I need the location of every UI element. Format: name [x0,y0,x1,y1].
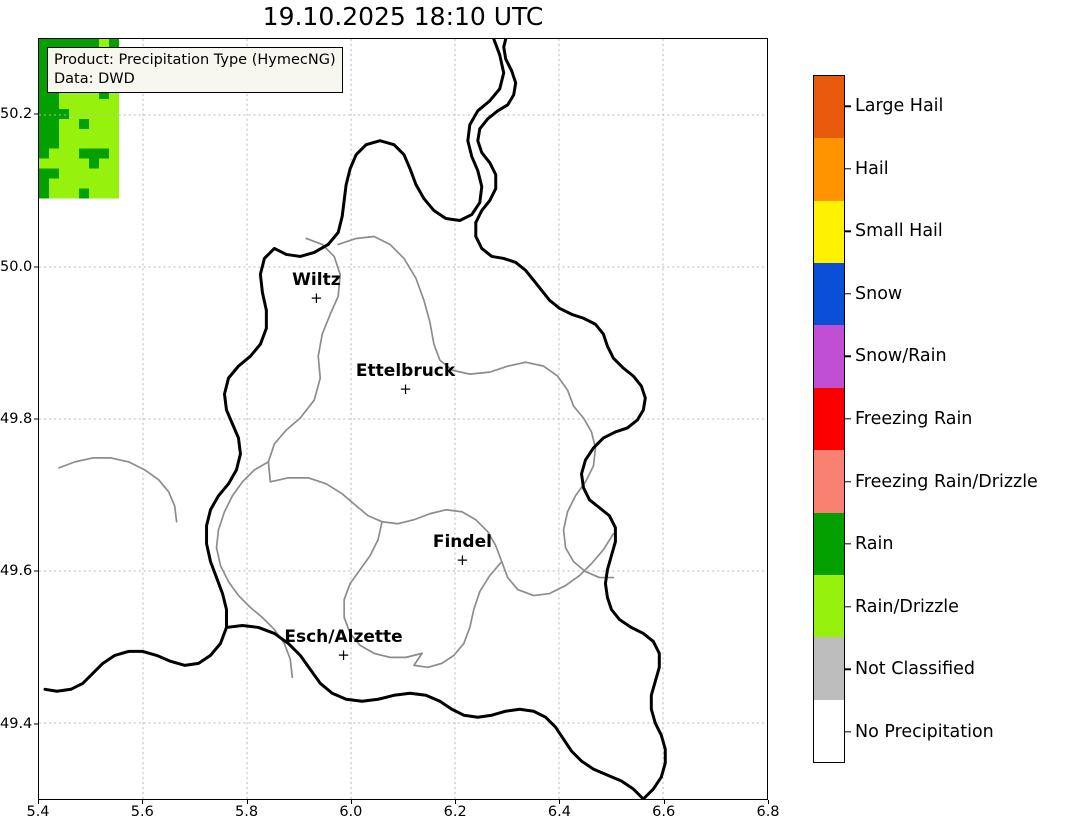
legend-label-freezing-rain-drizzle: Freezing Rain/Drizzle [855,472,1038,492]
city-marker-esch-alzette: Esch/Alzette+ [284,629,402,663]
city-marker-wiltz: Wiltz+ [292,272,340,306]
x-tick-label: 6.0 [339,804,362,820]
x-tick-label: 5.6 [131,804,154,820]
x-tick-label: 6.4 [548,804,571,820]
legend-label-large-hail: Large Hail [855,96,943,116]
legend-swatch-rain[interactable] [814,513,844,575]
city-plus-icon: + [433,553,492,568]
legend-swatch-snow-rain[interactable] [814,325,844,387]
x-tick-label: 6.6 [652,804,675,820]
y-tick-mark [34,571,38,572]
legend-label-hail: Hail [855,159,889,179]
legend-tick-mark [845,543,851,544]
legend-label-snow: Snow [855,284,902,304]
legend-colorbar[interactable] [813,75,845,763]
legend-label-snow-rain: Snow/Rain [855,346,947,366]
y-tick-mark [34,114,38,115]
legend-swatch-no-precipitation[interactable] [814,700,844,762]
legend-tick-mark [845,356,851,357]
legend-label-rain: Rain [855,534,893,554]
y-tick-label: 49.6 [0,563,32,579]
x-tick-label: 5.8 [235,804,258,820]
legend-swatch-hail[interactable] [814,138,844,200]
info-box: Product: Precipitation Type (HymecNG) Da… [47,47,343,93]
city-plus-icon: + [292,291,340,306]
legend-swatch-rain-drizzle[interactable] [814,575,844,637]
x-tick-label: 5.4 [26,804,49,820]
legend-label-no-precipitation: No Precipitation [855,722,994,742]
y-tick-label: 49.8 [0,411,32,427]
city-label: Findel [433,534,492,551]
city-marker-ettelbruck: Ettelbruck+ [356,363,455,397]
legend-swatch-large-hail[interactable] [814,76,844,138]
legend-label-rain-drizzle: Rain/Drizzle [855,597,959,617]
legend-tick-mark [845,418,851,419]
city-plus-icon: + [284,648,402,663]
legend-tick-mark [845,731,851,732]
legend-tick-mark [845,231,851,232]
legend-label-not-classified: Not Classified [855,659,975,679]
legend-label-small-hail: Small Hail [855,221,943,241]
legend-tick-mark [845,606,851,607]
legend-label-freezing-rain: Freezing Rain [855,409,972,429]
y-tick-mark [34,723,38,724]
legend-tick-mark [845,668,851,669]
y-tick-mark [34,419,38,420]
y-tick-mark [34,266,38,267]
city-markers-layer: Wiltz+Ettelbruck+Findel+Esch/Alzette+ [39,39,767,799]
legend-swatch-snow[interactable] [814,263,844,325]
info-product-line: Product: Precipitation Type (HymecNG) [54,51,336,70]
y-tick-label: 49.4 [0,716,32,732]
map-plot-area[interactable]: Product: Precipitation Type (HymecNG) Da… [38,38,768,800]
info-data-line: Data: DWD [54,70,336,89]
city-marker-findel: Findel+ [433,534,492,568]
y-tick-label: 50.2 [0,106,32,122]
y-tick-label: 50.0 [0,259,32,275]
city-label: Ettelbruck [356,363,455,380]
x-tick-label: 6.8 [756,804,779,820]
page-title: 19.10.2025 18:10 UTC [38,2,768,31]
legend-tick-mark [845,106,851,107]
legend-tick-mark [845,293,851,294]
city-label: Esch/Alzette [284,629,402,646]
city-label: Wiltz [292,272,340,289]
legend-tick-mark [845,481,851,482]
city-plus-icon: + [356,382,455,397]
legend-swatch-not-classified[interactable] [814,637,844,699]
legend-swatch-freezing-rain[interactable] [814,388,844,450]
legend-swatch-freezing-rain-drizzle[interactable] [814,450,844,512]
legend-tick-mark [845,168,851,169]
x-tick-label: 6.2 [444,804,467,820]
legend-swatch-small-hail[interactable] [814,201,844,263]
